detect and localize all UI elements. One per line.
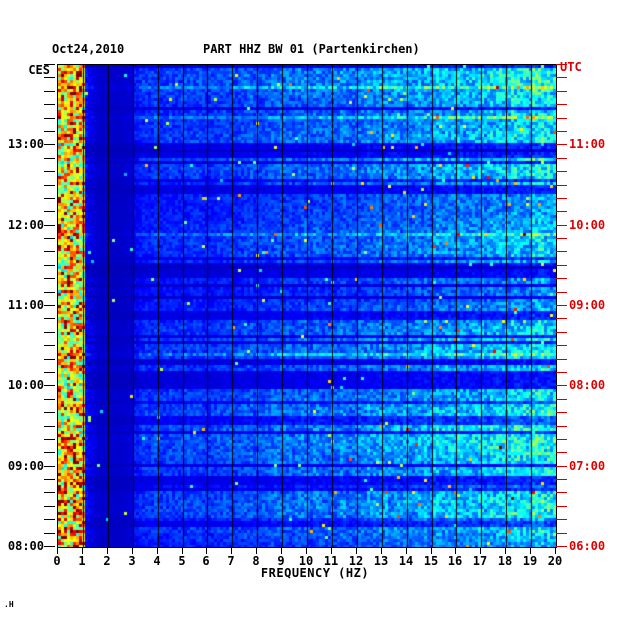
y-tick-right: [556, 292, 567, 293]
x-tick: [256, 547, 257, 554]
y-tick-left: [44, 452, 55, 453]
y-tick-left: [44, 118, 55, 119]
spectrogram-image[interactable]: [58, 65, 556, 547]
y-tick-right: [556, 519, 567, 520]
y-tick-left: [44, 171, 55, 172]
spectrogram-plot[interactable]: [57, 64, 557, 548]
y-tick-right: [556, 466, 567, 467]
y-tick-left: [44, 412, 55, 413]
y-tick-left: [44, 131, 55, 132]
x-tick: [231, 547, 232, 554]
y-tick-right: [556, 171, 567, 172]
x-tick: [182, 547, 183, 554]
y-tick-right: [556, 399, 567, 400]
y-tick-right: [556, 198, 567, 199]
page-title: PART HHZ BW 01 (Partenkirchen): [203, 42, 420, 56]
y-tick-right: [556, 265, 567, 266]
y-tick-right: [556, 412, 567, 413]
x-axis-title: FREQUENCY (HZ): [0, 566, 630, 580]
y-tick-left: [44, 144, 55, 145]
y-tick-right: [556, 64, 567, 65]
y-axis-label-left: 09:00: [0, 459, 44, 473]
y-tick-left: [44, 399, 55, 400]
y-tick-right: [556, 426, 567, 427]
y-tick-left: [44, 292, 55, 293]
y-tick-left: [44, 77, 55, 78]
y-tick-left: [44, 225, 55, 226]
y-tick-right: [556, 238, 567, 239]
y-tick-left: [44, 533, 55, 534]
y-tick-right: [556, 439, 567, 440]
y-tick-right: [556, 345, 567, 346]
y-tick-left: [44, 278, 55, 279]
y-tick-left: [44, 332, 55, 333]
spectrogram-figure: Oct24,2010 PART HHZ BW 01 (Partenkirchen…: [0, 0, 630, 624]
y-tick-left: [44, 426, 55, 427]
y-tick-right: [556, 492, 567, 493]
y-axis-label-right: 11:00: [569, 137, 605, 151]
y-axis-label-right: 07:00: [569, 459, 605, 473]
y-tick-left: [44, 318, 55, 319]
y-tick-right: [556, 385, 567, 386]
y-axis-label-right: 08:00: [569, 378, 605, 392]
y-tick-right: [556, 506, 567, 507]
y-tick-left: [44, 64, 55, 65]
y-tick-right: [556, 278, 567, 279]
y-tick-left: [44, 211, 55, 212]
y-tick-right: [556, 91, 567, 92]
x-tick: [281, 547, 282, 554]
y-tick-left: [44, 546, 55, 547]
x-tick: [82, 547, 83, 554]
y-tick-left: [44, 385, 55, 386]
y-tick-left: [44, 439, 55, 440]
x-tick: [406, 547, 407, 554]
x-tick: [356, 547, 357, 554]
x-tick: [381, 547, 382, 554]
x-tick: [107, 547, 108, 554]
y-axis-label-left: 10:00: [0, 378, 44, 392]
y-tick-right: [556, 158, 567, 159]
y-tick-left: [44, 305, 55, 306]
y-tick-left: [44, 479, 55, 480]
x-tick: [480, 547, 481, 554]
y-tick-left: [44, 91, 55, 92]
x-tick: [132, 547, 133, 554]
y-tick-right: [556, 225, 567, 226]
y-tick-left: [44, 519, 55, 520]
x-tick: [455, 547, 456, 554]
y-axis-label-left: 11:00: [0, 298, 44, 312]
x-tick: [306, 547, 307, 554]
y-tick-left: [44, 238, 55, 239]
y-tick-right: [556, 533, 567, 534]
y-tick-right: [556, 104, 567, 105]
y-tick-left: [44, 251, 55, 252]
y-tick-left: [44, 198, 55, 199]
y-tick-left: [44, 158, 55, 159]
y-tick-right: [556, 332, 567, 333]
x-tick: [157, 547, 158, 554]
y-axis-label-left: 08:00: [0, 539, 44, 553]
y-tick-right: [556, 452, 567, 453]
y-tick-left: [44, 372, 55, 373]
y-tick-right: [556, 479, 567, 480]
y-tick-right: [556, 185, 567, 186]
right-axis-name: UTC: [560, 60, 582, 74]
date-label: Oct24,2010: [52, 42, 124, 56]
y-tick-left: [44, 265, 55, 266]
x-tick: [505, 547, 506, 554]
y-tick-left: [44, 359, 55, 360]
x-tick: [206, 547, 207, 554]
y-axis-label-right: 10:00: [569, 218, 605, 232]
x-tick: [331, 547, 332, 554]
y-tick-right: [556, 305, 567, 306]
y-tick-right: [556, 372, 567, 373]
y-tick-right: [556, 118, 567, 119]
x-tick: [57, 547, 58, 554]
y-tick-left: [44, 345, 55, 346]
y-tick-right: [556, 144, 567, 145]
left-axis-name: CES: [10, 63, 50, 77]
y-tick-right: [556, 211, 567, 212]
y-tick-left: [44, 185, 55, 186]
y-axis-label-right: 09:00: [569, 298, 605, 312]
y-axis-label-left: 13:00: [0, 137, 44, 151]
x-tick: [431, 547, 432, 554]
y-axis-label-left: 12:00: [0, 218, 44, 232]
y-tick-left: [44, 104, 55, 105]
y-tick-left: [44, 492, 55, 493]
y-tick-right: [556, 131, 567, 132]
x-tick: [530, 547, 531, 554]
corner-mark: .H: [4, 600, 14, 609]
x-tick: [555, 547, 556, 554]
y-tick-right: [556, 546, 567, 547]
y-tick-right: [556, 359, 567, 360]
y-axis-label-right: 06:00: [569, 539, 605, 553]
y-tick-left: [44, 466, 55, 467]
y-tick-right: [556, 251, 567, 252]
y-tick-right: [556, 318, 567, 319]
y-tick-left: [44, 506, 55, 507]
y-tick-right: [556, 77, 567, 78]
